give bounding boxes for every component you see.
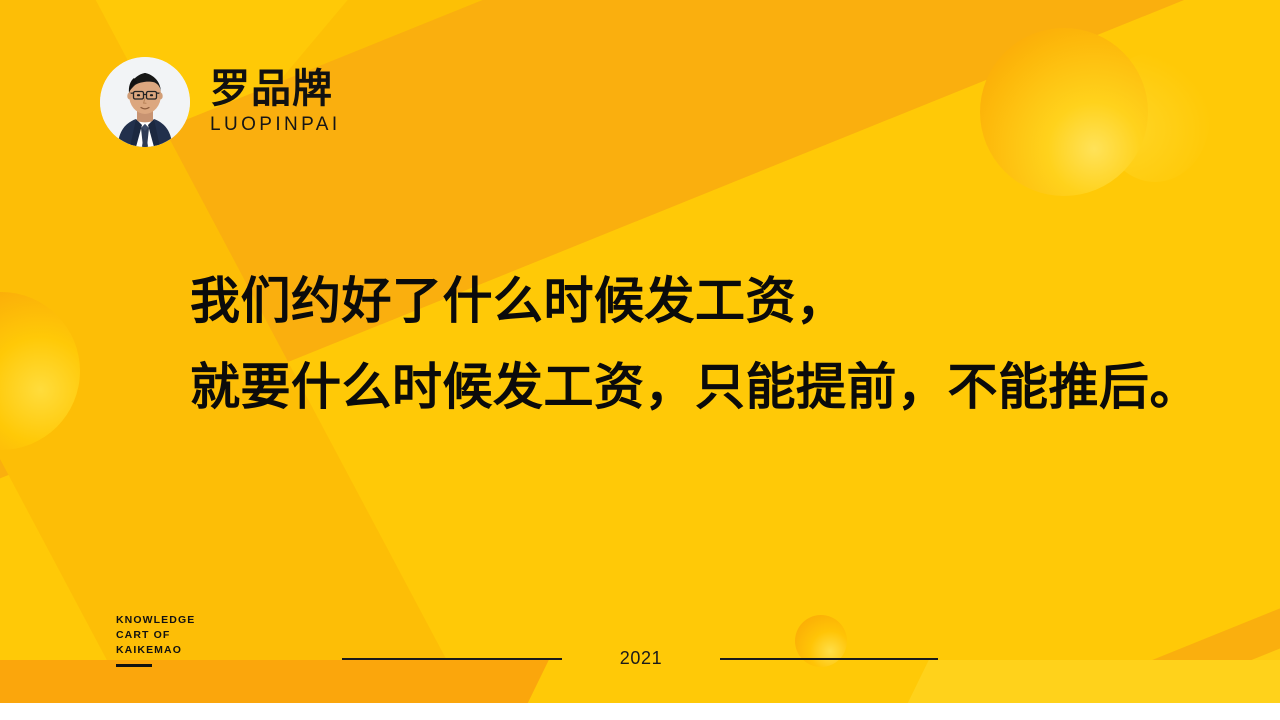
- footer-year: 2021: [562, 649, 720, 667]
- footer-rule-left: [342, 658, 562, 660]
- brand-text-block: 罗品牌 LUOPINPAI: [210, 68, 341, 135]
- brand-name-cn: 罗品牌: [210, 68, 341, 111]
- footer-brand-line-2: CART OF: [116, 628, 195, 643]
- footer-rule-right: [720, 658, 938, 660]
- headline-block: 我们约好了什么时候发工资， 就要什么时候发工资，只能提前，不能推后。: [190, 258, 1250, 430]
- slide-canvas: 罗品牌 LUOPINPAI 我们约好了什么时候发工资， 就要什么时候发工资，只能…: [0, 0, 1280, 703]
- headline-line-1: 我们约好了什么时候发工资，: [190, 258, 1250, 344]
- brand-logo: 罗品牌 LUOPINPAI: [100, 57, 341, 147]
- decor-sphere-top-right: [980, 28, 1148, 196]
- sphere-glow-top-right: [1100, 52, 1210, 182]
- avatar-portrait-icon: [100, 57, 190, 147]
- headline-line-2: 就要什么时候发工资，只能提前，不能推后。: [190, 344, 1250, 430]
- footer-year-block: 2021: [0, 650, 1280, 668]
- decor-sphere-left: [0, 292, 80, 450]
- brand-name-en: LUOPINPAI: [210, 114, 341, 136]
- footer-brand-line-1: KNOWLEDGE: [116, 613, 195, 628]
- avatar: [100, 57, 190, 147]
